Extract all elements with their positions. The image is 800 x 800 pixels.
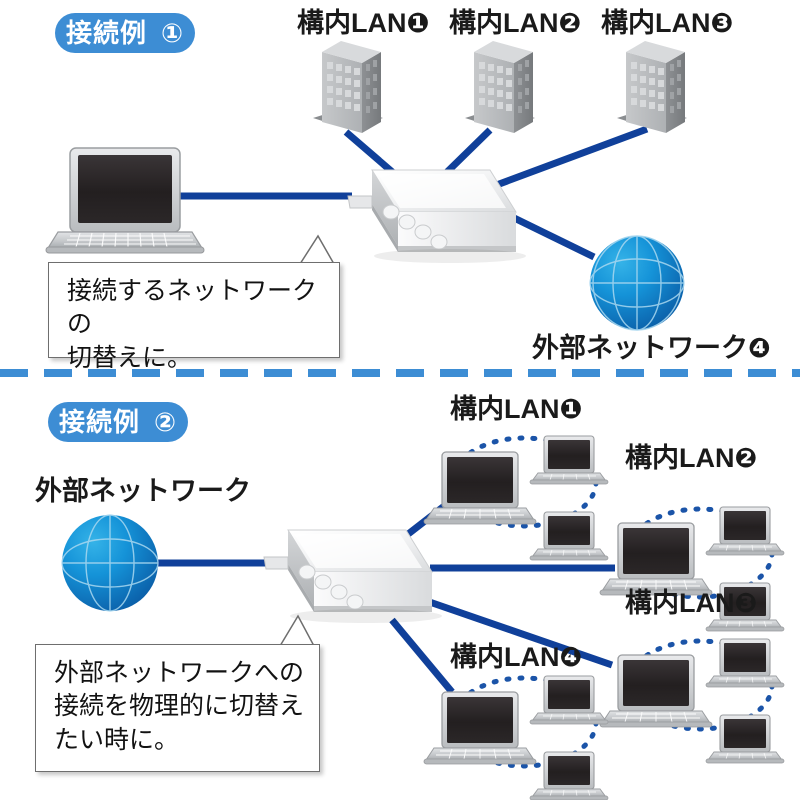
laptop-node-3b [706, 715, 784, 763]
callout-text: 接続するネットワークの 切替えに。 [67, 275, 331, 375]
label-lan-2: 構内LAN❷ [449, 10, 581, 37]
laptop-node-4a [530, 676, 608, 724]
label-external-network-1: 外部ネットワーク❹ [532, 335, 771, 362]
badge-label: 接続例 [59, 409, 140, 435]
link-switch2-lan1 [394, 500, 452, 545]
loop-lan-3 [628, 641, 772, 729]
link-switch2-lan4 [392, 620, 452, 692]
laptop-node-1a [530, 436, 608, 484]
badge-example-1: 接続例 ① [55, 13, 195, 53]
callout-tail-1 [300, 236, 334, 264]
label-lan-3: 構内LAN❸ [601, 10, 733, 37]
laptop-node-1b [530, 512, 608, 560]
link-switch-building2 [444, 130, 490, 175]
globe-external-network [590, 236, 684, 330]
building-lan-2 [465, 41, 535, 133]
label-external-network-2: 外部ネットワーク [35, 478, 251, 505]
globe-external-network-2 [62, 515, 158, 611]
building-lan-3 [617, 41, 687, 133]
badge-number: ② [154, 409, 177, 435]
badge-label: 接続例 [66, 20, 147, 46]
lan-cluster-1 [424, 436, 608, 560]
laptop-main-4 [424, 692, 536, 764]
laptop-node-4b [530, 752, 608, 800]
label-lan-cluster-1: 構内LAN❶ [450, 396, 582, 423]
badge-example-2: 接続例 ② [48, 402, 188, 442]
lan-cluster-4 [424, 676, 608, 800]
callout-tail-2 [280, 616, 314, 646]
lan-cluster-3 [600, 639, 784, 763]
switch-device-2 [264, 530, 442, 623]
laptop-main-3 [600, 655, 712, 727]
label-lan-cluster-2: 構内LAN❷ [625, 445, 757, 472]
badge-number: ① [161, 20, 184, 46]
laptop-main-1 [424, 452, 536, 524]
loop-lan-4 [452, 678, 596, 766]
callout-text: 外部ネットワークへの 接続を物理的に切替え たい時に。 [54, 657, 311, 757]
building-lan-1 [313, 41, 383, 133]
switch-device [348, 170, 526, 263]
label-lan-cluster-4: 構内LAN❹ [450, 644, 582, 671]
section1-links [178, 129, 647, 257]
link-switch-building1 [346, 132, 397, 176]
laptop-client [46, 148, 204, 253]
laptop-main-2 [600, 523, 712, 595]
loop-lan-1 [452, 438, 596, 526]
link-switch-building3 [483, 129, 647, 190]
link-switch-globe [508, 215, 594, 257]
diagram-canvas: 接続例 ① 構内LAN❶ 構内LAN❷ 構内LAN❸ 外部ネットワーク❹ 接続す… [0, 0, 800, 800]
loop-lan-2 [628, 509, 772, 597]
laptop-node-3a [706, 639, 784, 687]
label-lan-1: 構内LAN❶ [297, 10, 429, 37]
label-lan-cluster-3: 構内LAN❸ [625, 590, 757, 617]
callout-example-1: 接続するネットワークの 切替えに。 [48, 262, 340, 358]
callout-example-2: 外部ネットワークへの 接続を物理的に切替え たい時に。 [35, 644, 320, 772]
laptop-node-2a [706, 507, 784, 555]
